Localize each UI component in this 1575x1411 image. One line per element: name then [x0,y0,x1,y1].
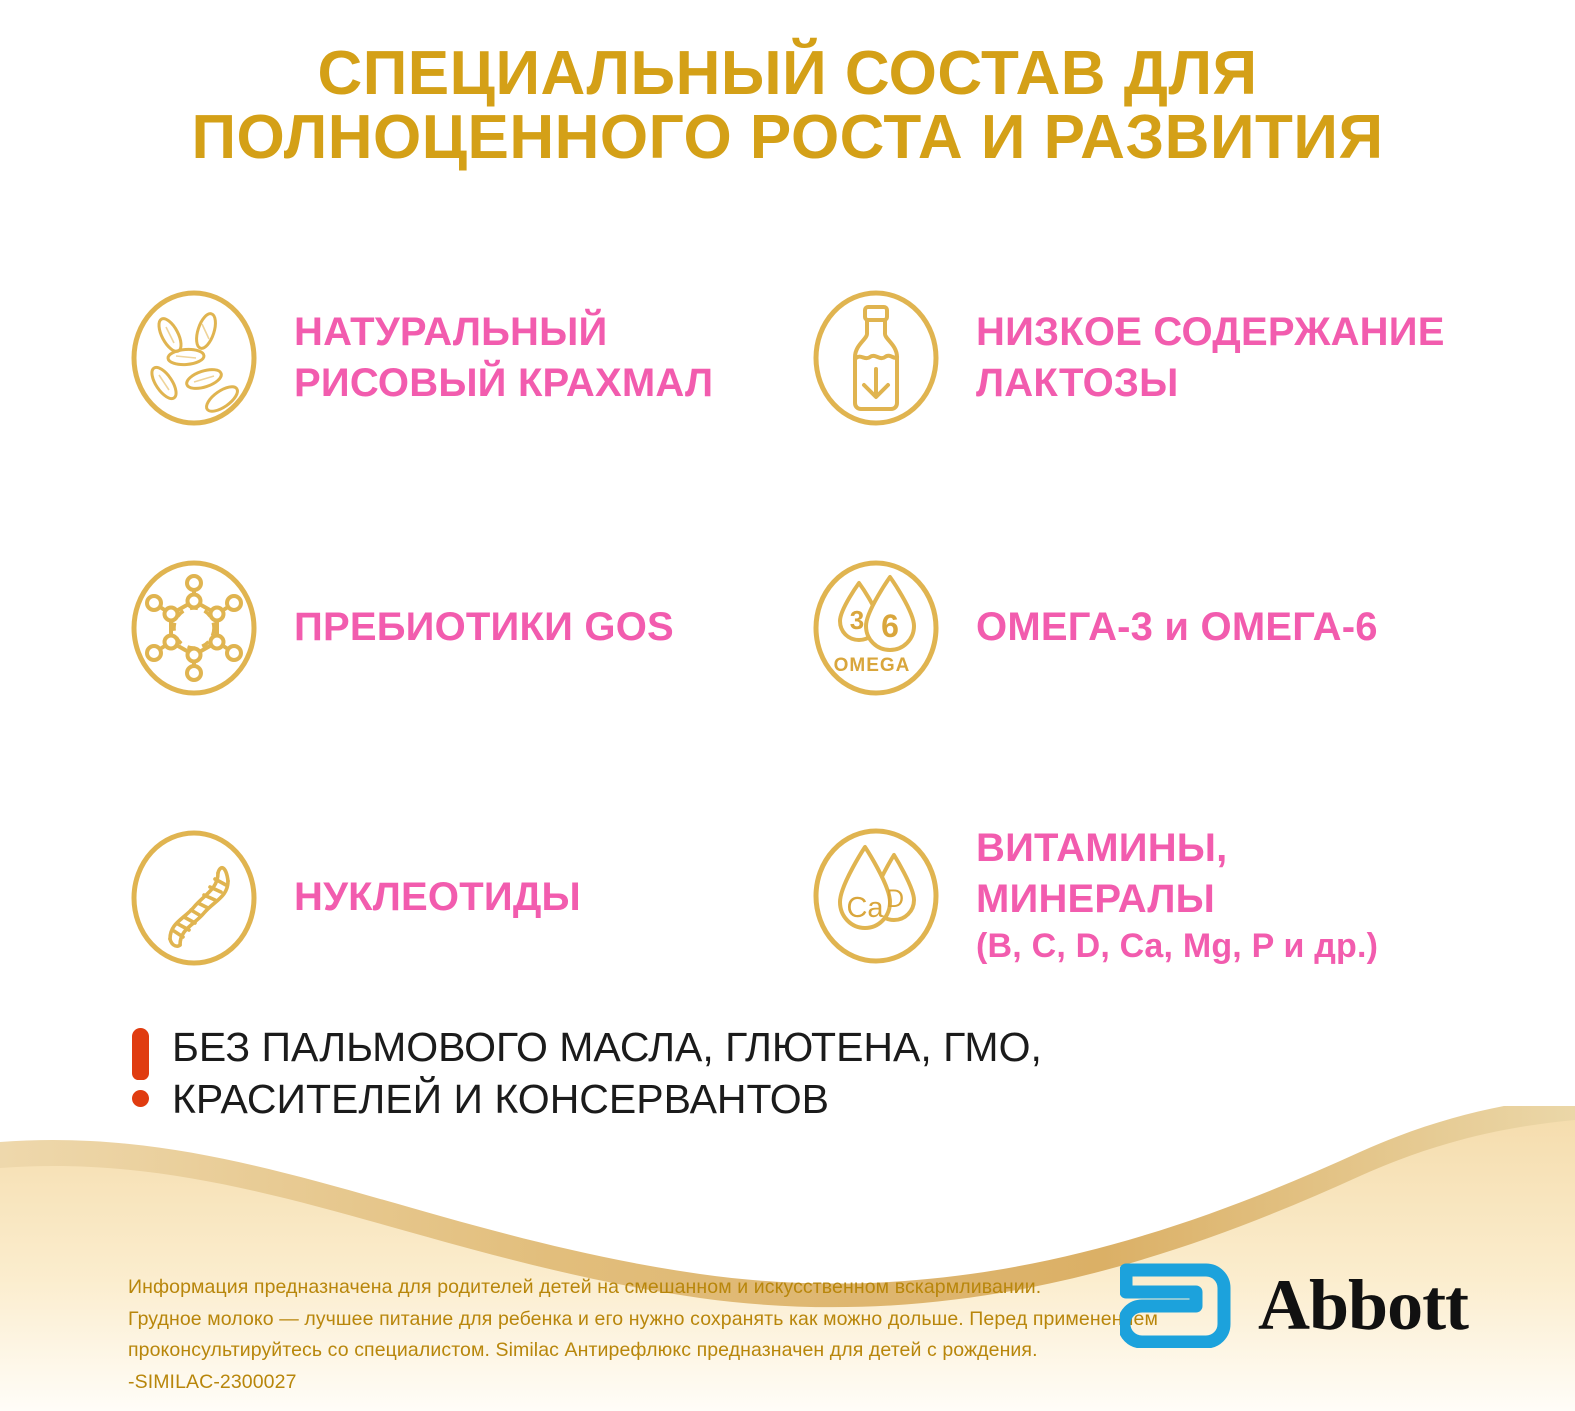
feature-item-vitamins-minerals: D Ca ВИТАМИНЫ, МИНЕРАЛЫ (B, C, D, Ca, Mg… [810,796,1510,996]
disclaimer-line-3: проконсультируйтесь со специалистом. Sim… [128,1335,1108,1367]
page-title: СПЕЦИАЛЬНЫЙ СОСТАВ ДЛЯ ПОЛНОЦЕННОГО РОСТ… [0,42,1575,171]
exclamation-mark-icon [128,1028,154,1114]
omega-drop-large-label: 6 [881,608,899,644]
feature-label-rice-starch: НАТУРАЛЬНЫЙ РИСОВЫЙ КРАХМАЛ [294,307,713,409]
feature-text-line: НИЗКОЕ СОДЕРЖАНИЕ [976,307,1445,358]
feature-item-prebiotics-gos: ПРЕБИОТИКИ GOS [128,548,788,708]
feature-text-line: ЛАКТОЗЫ [976,358,1445,409]
feature-label-nucleotides: НУКЛЕОТИДЫ [294,872,581,923]
feature-label-prebiotics-gos: ПРЕБИОТИКИ GOS [294,602,674,653]
omega-drop-small-label: 3 [850,605,864,635]
feature-text-line: ОМЕГА-3 и ОМЕГА-6 [976,602,1378,653]
abbott-a-logo-icon [1120,1262,1232,1348]
omega-caption-label: OMEGA [834,655,911,676]
feature-label-vitamins-minerals: ВИТАМИНЫ, МИНЕРАЛЫ (B, C, D, Ca, Mg, P и… [976,823,1378,969]
feature-text-line: НАТУРАЛЬНЫЙ [294,307,713,358]
rice-grains-icon [128,287,260,429]
title-line-1: СПЕЦИАЛЬНЫЙ СОСТАВ ДЛЯ [0,42,1575,106]
feature-text-line: НУКЛЕОТИДЫ [294,872,581,923]
feature-grid: НАТУРАЛЬНЫЙ РИСОВЫЙ КРАХМАЛ НИЗКОЕ СОДЕР… [0,276,1575,1016]
feature-item-rice-starch: НАТУРАЛЬНЫЙ РИСОВЫЙ КРАХМАЛ [128,278,788,438]
vitamin-droplets-icon: D Ca [810,825,942,967]
feature-text-line: РИСОВЫЙ КРАХМАЛ [294,358,713,409]
feature-item-nucleotides: НУКЛЕОТИДЫ [128,818,788,978]
disclaimer-code: -SIMILAC-2300027 [128,1367,1108,1399]
title-line-2: ПОЛНОЦЕННОГО РОСТА И РАЗВИТИЯ [0,106,1575,170]
exclamation-stem [132,1028,149,1080]
molecule-prebiotic-icon [128,557,260,699]
feature-label-omega: ОМЕГА-3 и ОМЕГА-6 [976,602,1378,653]
abbott-logo: Abbott [1120,1262,1468,1348]
exclamation-dot [132,1090,149,1107]
feature-text-line: МИНЕРАЛЫ [976,874,1378,925]
feature-text-line: ПРЕБИОТИКИ GOS [294,602,674,653]
vitamin-drop-small-label: D [886,885,904,913]
disclaimer-text: Информация предназначена для родителей д… [128,1272,1108,1398]
dna-helix-icon [128,827,260,969]
disclaimer-line-1: Информация предназначена для родителей д… [128,1272,1108,1304]
warning-line-1: БЕЗ ПАЛЬМОВОГО МАСЛА, ГЛЮТЕНА, ГМО, [172,1022,1042,1074]
milk-bottle-down-arrow-icon [810,287,942,429]
disclaimer-line-2: Грудное молоко — лучшее питание для ребе… [128,1304,1108,1336]
omega-droplets-icon: 3 6 OMEGA [810,557,942,699]
feature-text-line: (B, C, D, Ca, Mg, P и др.) [976,925,1378,969]
vitamin-drop-large-label: Ca [846,892,884,924]
feature-item-low-lactose: НИЗКОЕ СОДЕРЖАНИЕ ЛАКТОЗЫ [810,278,1510,438]
feature-text-line: ВИТАМИНЫ, [976,823,1378,874]
feature-label-low-lactose: НИЗКОЕ СОДЕРЖАНИЕ ЛАКТОЗЫ [976,307,1445,409]
abbott-wordmark: Abbott [1258,1269,1468,1341]
feature-item-omega: 3 6 OMEGA ОМЕГА-3 и ОМЕГА-6 [810,548,1510,708]
